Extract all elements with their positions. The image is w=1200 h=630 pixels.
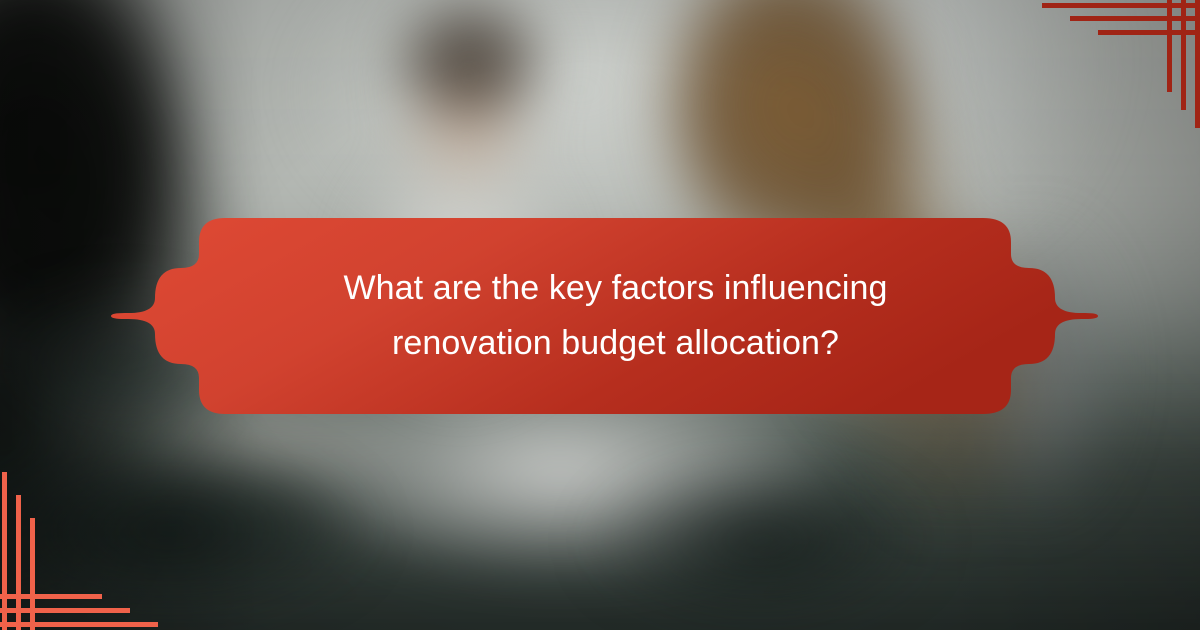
question-banner: What are the key factors influencing ren… <box>103 196 1098 436</box>
headline-line-1: What are the key factors influencing <box>343 261 887 316</box>
headline-line-2: renovation budget allocation? <box>392 316 839 371</box>
corner-ornament-top-right-lines <box>1030 0 1200 130</box>
corner-ornament-bottom-left-lines <box>0 450 170 630</box>
corner-ornament-top-right <box>1030 0 1200 130</box>
banner-headline: What are the key factors influencing ren… <box>103 196 1098 436</box>
corner-ornament-bottom-left <box>0 450 170 630</box>
